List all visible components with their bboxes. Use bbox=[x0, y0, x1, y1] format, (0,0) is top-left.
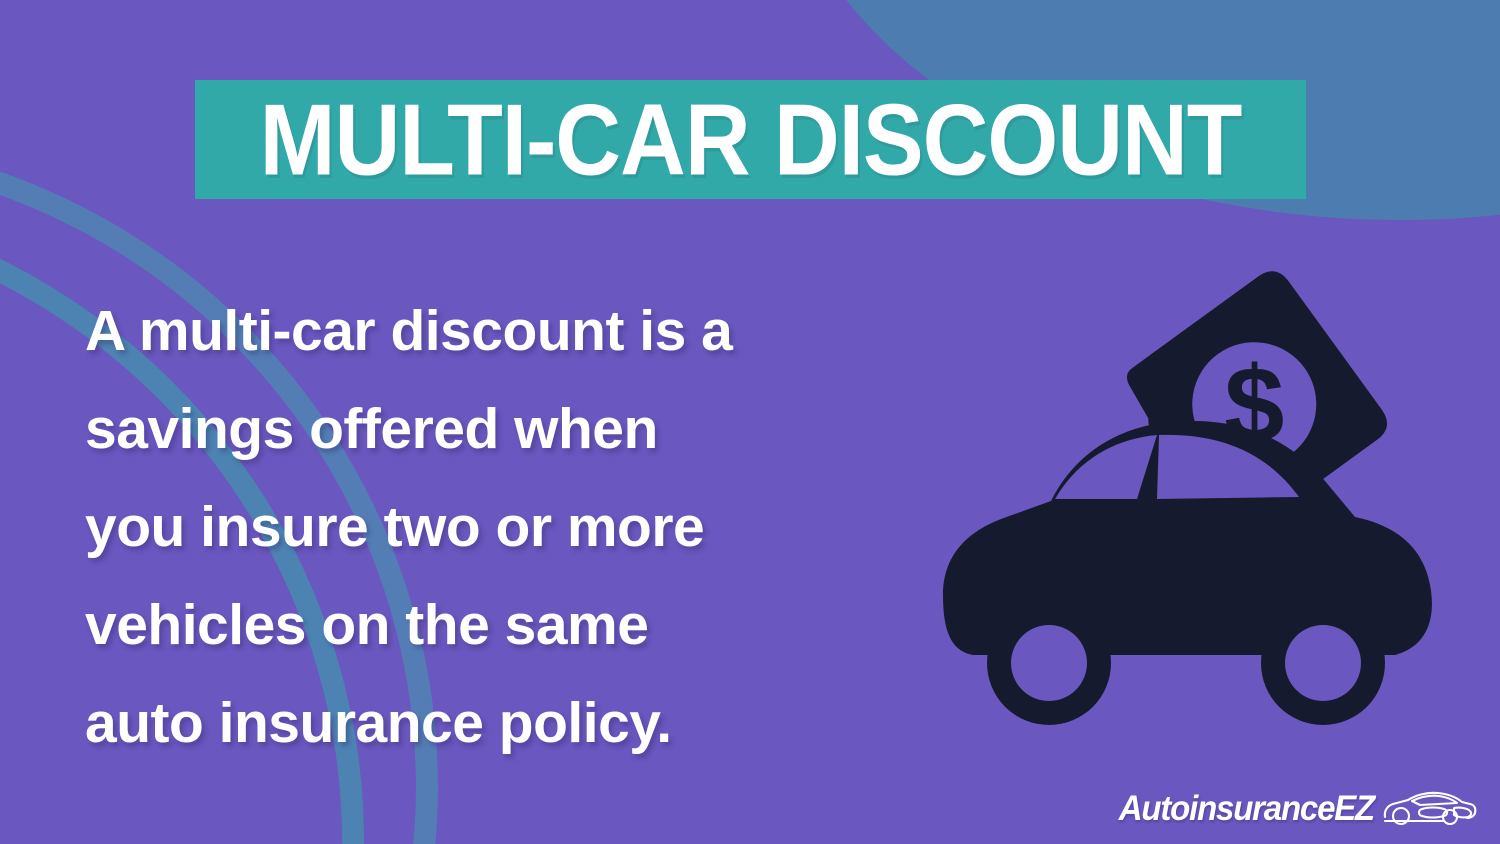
body-line: you insure two or more bbox=[85, 478, 965, 576]
logo-wordmark: AutoinsuranceEZ bbox=[1119, 789, 1374, 825]
illustration-group: $ bbox=[925, 265, 1445, 725]
infographic-canvas: MULTI-CAR DISCOUNT A multi-car discount … bbox=[0, 0, 1500, 844]
car-front-wheel-hub bbox=[1011, 625, 1087, 701]
body-line: savings offered when bbox=[85, 380, 965, 478]
car-rear-wheel-hub bbox=[1285, 625, 1361, 701]
body-line: auto insurance policy. bbox=[85, 674, 965, 772]
car-side-icon bbox=[943, 421, 1432, 725]
body-line: A multi-car discount is a bbox=[85, 282, 965, 380]
body-line: vehicles on the same bbox=[85, 576, 965, 674]
brand-logo[interactable]: AutoinsuranceEZ bbox=[1119, 788, 1478, 826]
sports-car-outline-icon bbox=[1382, 788, 1478, 826]
body-paragraph: A multi-car discount is a savings offere… bbox=[85, 282, 965, 772]
page-title: MULTI-CAR DISCOUNT bbox=[162, 69, 1340, 209]
